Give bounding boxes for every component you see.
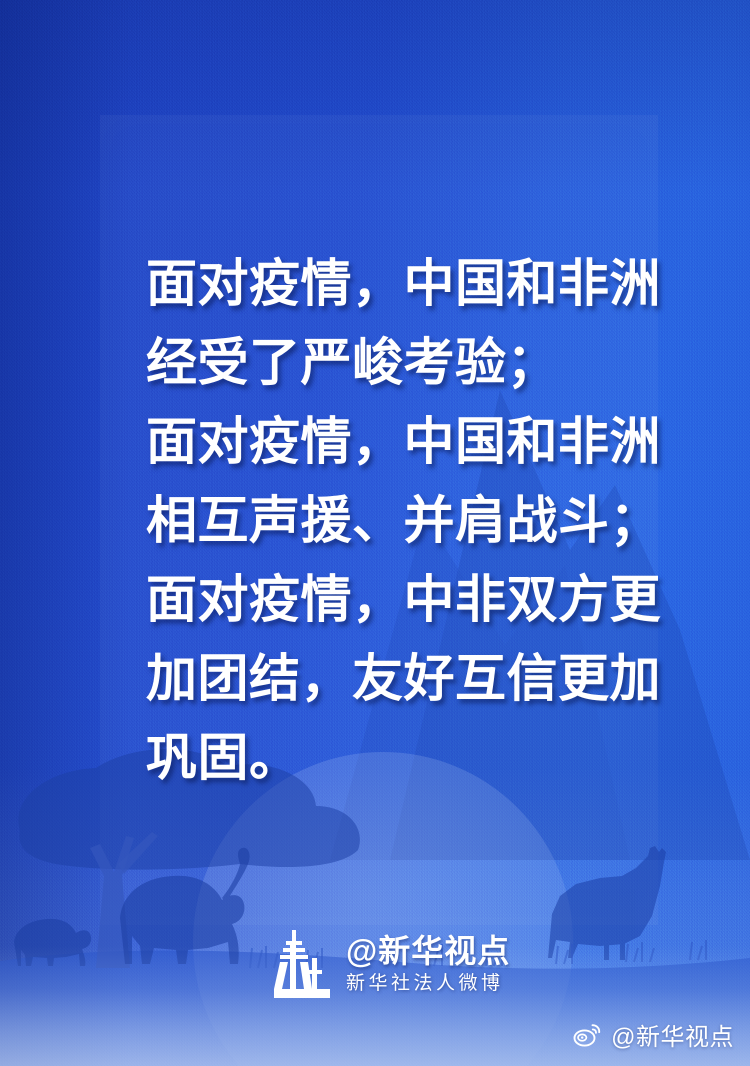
headline-line-4: 相互声援、并肩战斗；	[146, 483, 676, 562]
weibo-icon	[573, 1022, 603, 1048]
brand-text: @新华视点 新华社法人微博	[346, 935, 510, 993]
poster-root: 面对疫情，中国和非洲 经受了严峻考验； 面对疫情，中国和非洲 相互声援、并肩战斗…	[0, 0, 750, 1066]
giraffe-silhouette	[548, 846, 666, 960]
headline-line-6: 加团结，友好互信更加	[146, 641, 676, 720]
brand-subtitle: 新华社法人微博	[346, 974, 510, 993]
brand-title: @新华视点	[346, 935, 510, 967]
headline-block: 面对疫情，中国和非洲 经受了严峻考验； 面对疫情，中国和非洲 相互声援、并肩战斗…	[146, 246, 676, 799]
weibo-watermark-text: @新华视点	[611, 1017, 734, 1052]
headline-line-1: 面对疫情，中国和非洲	[146, 246, 676, 325]
headline-line-5: 面对疫情，中非双方更	[146, 562, 676, 641]
headline-line-2: 经受了严峻考验；	[146, 325, 676, 404]
weibo-watermark: @新华视点	[573, 1017, 734, 1052]
brand-lockup: @新华视点 新华社法人微博	[272, 928, 510, 1000]
xinhua-logo-mark-icon	[272, 928, 334, 1000]
headline-line-7: 巩固。	[146, 720, 676, 799]
headline-line-3: 面对疫情，中国和非洲	[146, 404, 676, 483]
